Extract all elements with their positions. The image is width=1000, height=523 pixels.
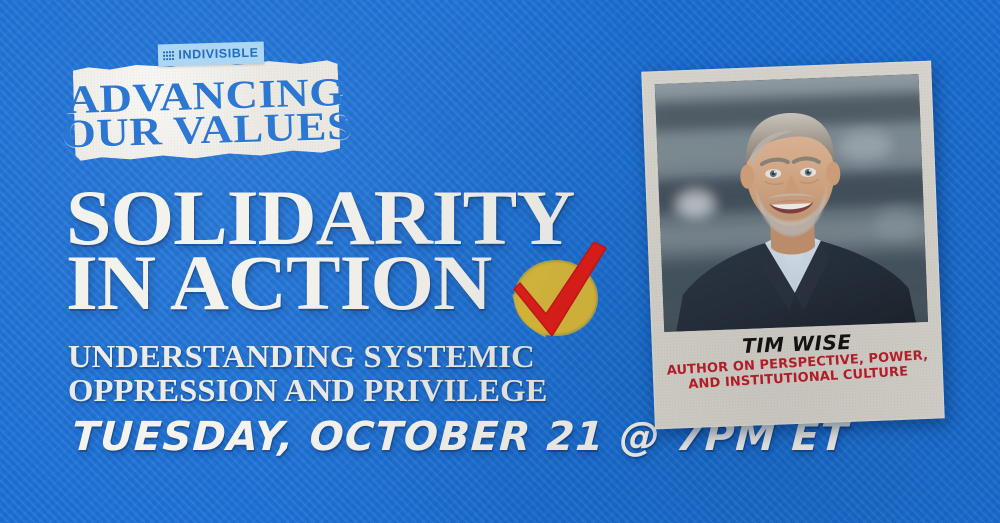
grid-dots-icon xyxy=(163,51,174,60)
indivisible-logo: INDIVISIBLE xyxy=(158,42,265,67)
speaker-caption: TIM WISE AUTHOR ON PERSPECTIVE, POWER, A… xyxy=(664,322,930,391)
speaker-photo xyxy=(655,74,928,332)
event-poster: INDIVISIBLE ADVANCING OUR VALUES SOLIDAR… xyxy=(0,0,1000,523)
headline-line-2: IN ACTION xyxy=(66,251,696,316)
series-banner: ADVANCING OUR VALUES xyxy=(73,58,341,162)
indivisible-logo-text: INDIVISIBLE xyxy=(178,46,259,61)
subtitle-line-2: OPPRESSION AND PRIVILEGE xyxy=(68,374,547,408)
subtitle: UNDERSTANDING SYSTEMIC OPPRESSION AND PR… xyxy=(68,340,538,408)
subtitle-line-1: UNDERSTANDING SYSTEMIC xyxy=(68,340,547,374)
banner-line-2: OUR VALUES xyxy=(61,109,353,152)
speaker-polaroid: TIM WISE AUTHOR ON PERSPECTIVE, POWER, A… xyxy=(641,61,945,430)
headline: SOLIDARITY IN ACTION xyxy=(66,186,666,315)
